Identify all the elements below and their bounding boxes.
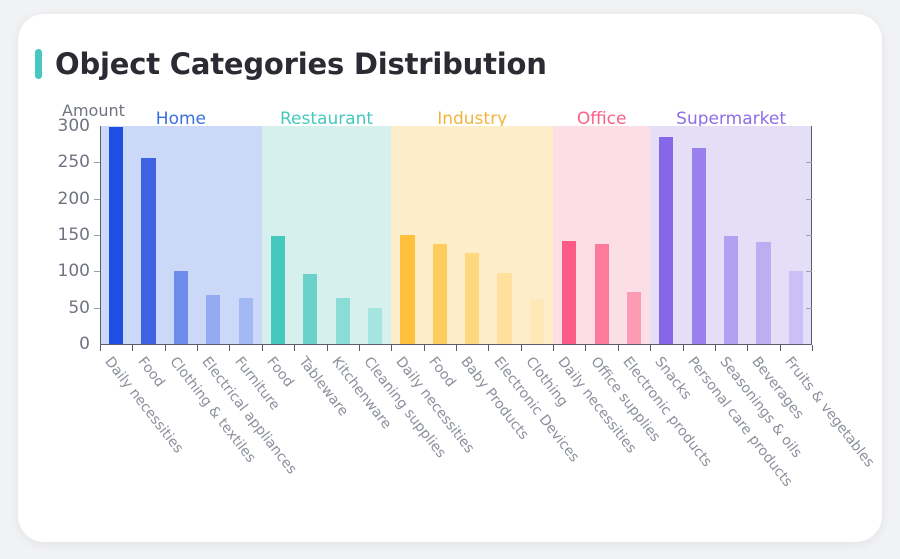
y-axis-line <box>100 126 101 345</box>
x-tick <box>747 345 748 351</box>
y-tick <box>94 235 100 236</box>
bar[interactable] <box>789 271 803 344</box>
x-tick <box>294 345 295 351</box>
x-tick <box>165 345 166 351</box>
y-tick-right <box>806 162 812 163</box>
y-axis-tick-label: 50 <box>68 298 90 318</box>
bar[interactable] <box>206 295 220 344</box>
x-tick <box>359 345 360 351</box>
bar[interactable] <box>141 158 155 344</box>
bar[interactable] <box>109 127 123 344</box>
bar[interactable] <box>336 298 350 344</box>
y-tick <box>94 271 100 272</box>
y-axis-tick-label: 250 <box>58 152 90 172</box>
x-tick <box>229 345 230 351</box>
x-axis-label: Food <box>425 354 458 390</box>
x-tick <box>585 345 586 351</box>
x-tick <box>391 345 392 351</box>
x-tick <box>197 345 198 351</box>
x-tick <box>812 345 813 351</box>
plot-area <box>100 126 812 344</box>
x-tick <box>780 345 781 351</box>
bar[interactable] <box>303 274 317 344</box>
bar[interactable] <box>756 242 770 344</box>
y-axis-tick-label: 0 <box>79 334 90 354</box>
bar[interactable] <box>530 299 544 344</box>
y-tick <box>94 308 100 309</box>
x-tick <box>456 345 457 351</box>
bar[interactable] <box>692 148 706 344</box>
y-tick <box>94 199 100 200</box>
y-axis-tick-label: 150 <box>58 225 90 245</box>
x-tick <box>650 345 651 351</box>
x-tick <box>132 345 133 351</box>
chart-plot-wrapper: Amount HomeRestaurantIndustryOfficeSuper… <box>18 14 882 542</box>
x-tick <box>715 345 716 351</box>
x-tick <box>100 345 101 351</box>
x-tick <box>521 345 522 351</box>
bar[interactable] <box>659 137 673 344</box>
x-tick <box>683 345 684 351</box>
x-tick <box>488 345 489 351</box>
x-tick <box>262 345 263 351</box>
x-tick <box>327 345 328 351</box>
y-tick <box>94 162 100 163</box>
y-tick-right <box>806 308 812 309</box>
y-tick-right <box>806 235 812 236</box>
bar[interactable] <box>724 236 738 344</box>
bar[interactable] <box>174 271 188 344</box>
x-tick <box>424 345 425 351</box>
bar[interactable] <box>595 244 609 344</box>
y-axis-tick-label: 100 <box>58 261 90 281</box>
y-axis-tick-label: 300 <box>58 116 90 136</box>
bar[interactable] <box>368 308 382 344</box>
bar[interactable] <box>239 298 253 344</box>
bar[interactable] <box>562 241 576 344</box>
x-axis-label: Food <box>134 354 167 390</box>
screenshot-root: Object Categories Distribution Amount Ho… <box>0 0 900 559</box>
y-axis-tick-label: 200 <box>58 189 90 209</box>
bar[interactable] <box>433 244 447 344</box>
bar[interactable] <box>627 292 641 344</box>
bar[interactable] <box>400 235 414 344</box>
chart-card: Object Categories Distribution Amount Ho… <box>18 14 882 542</box>
bar[interactable] <box>271 236 285 344</box>
y-tick-right <box>806 271 812 272</box>
y-tick-right <box>806 199 812 200</box>
bar[interactable] <box>465 253 479 344</box>
bar[interactable] <box>497 273 511 344</box>
x-tick <box>618 345 619 351</box>
x-tick <box>553 345 554 351</box>
